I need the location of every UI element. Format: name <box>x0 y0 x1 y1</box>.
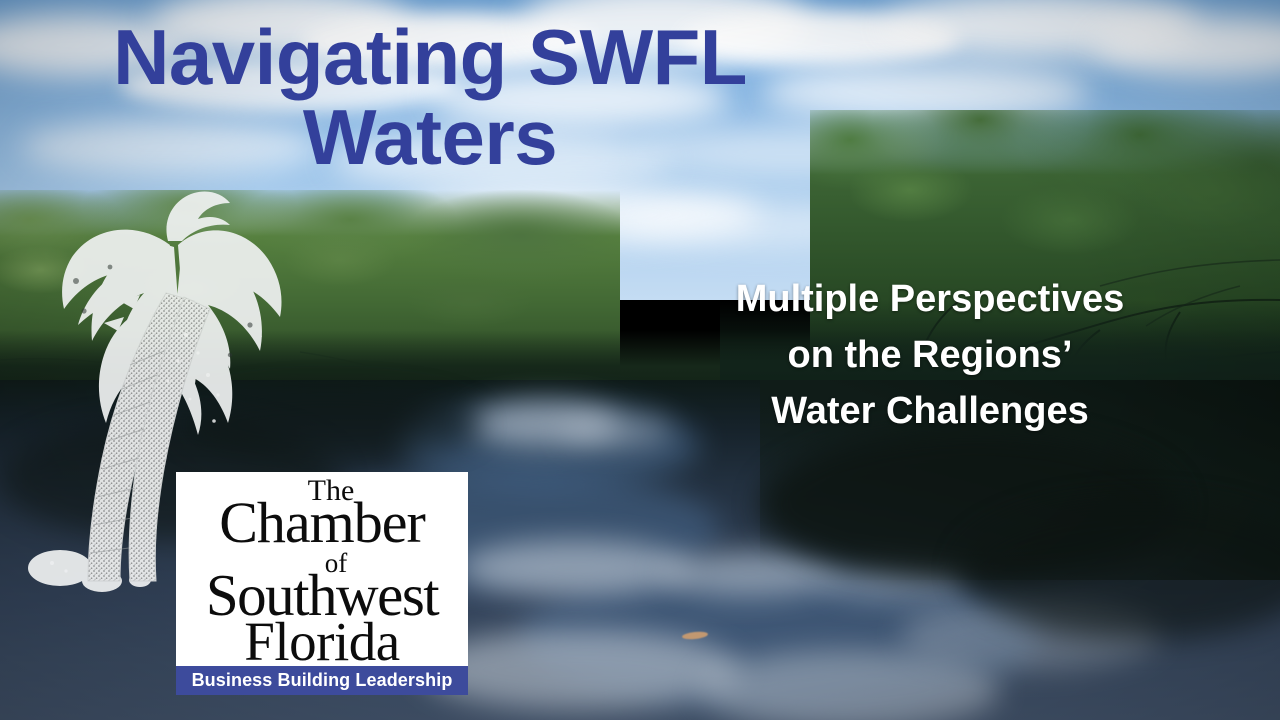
chamber-logo-florida: Florida <box>176 614 468 669</box>
slide-title-line-2: Waters <box>0 98 860 178</box>
slide-subtitle-line-3: Water Challenges <box>640 384 1220 440</box>
chamber-logo: The Chamber of Southwest Florida Busines… <box>176 472 468 695</box>
slide-subtitle: Multiple Perspectives on the Regions’ Wa… <box>640 272 1220 440</box>
slide-title-line-1: Navigating SWFL <box>113 13 747 101</box>
slide-subtitle-line-1: Multiple Perspectives <box>640 272 1220 328</box>
slide-title: Navigating SWFL Waters <box>0 18 860 177</box>
chamber-logo-chamber: Chamber <box>176 494 468 552</box>
presentation-slide: Navigating SWFL Waters Multiple Perspect… <box>0 0 1280 720</box>
chamber-logo-tagline: Business Building Leadership <box>192 670 453 691</box>
slide-subtitle-line-2: on the Regions’ <box>640 328 1220 384</box>
chamber-logo-wordmark: The Chamber of Southwest Florida <box>176 472 468 666</box>
